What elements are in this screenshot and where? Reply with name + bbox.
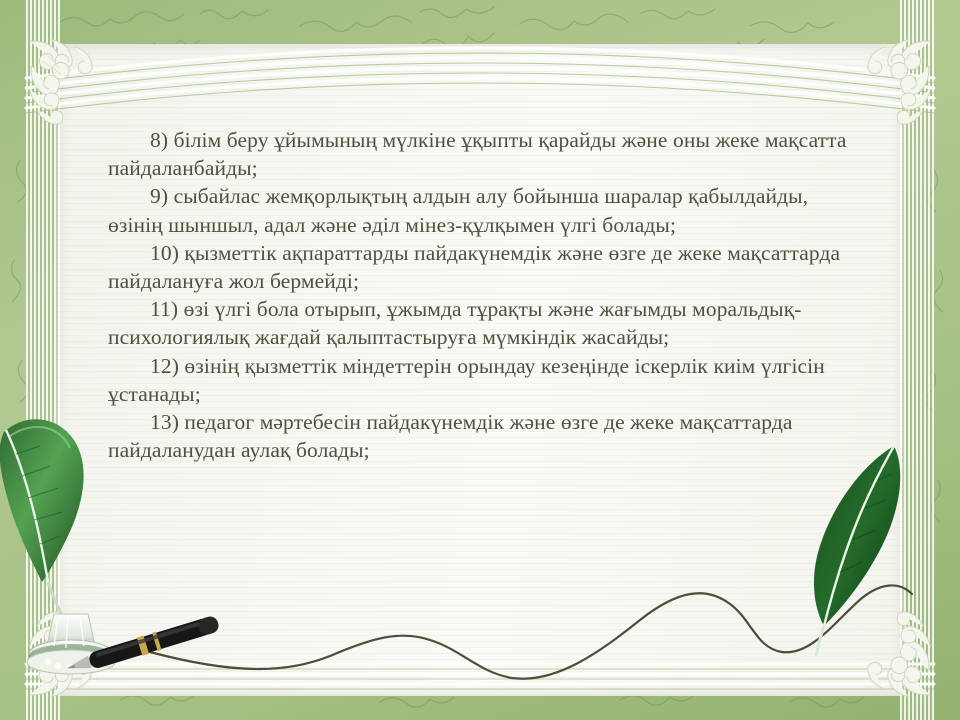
clause-paragraph: 13) педагог мәртебесін пайдакүнемдік жән… (108, 408, 856, 464)
clause-paragraph: 8) білім беру ұйымының мүлкіне ұқыпты қа… (108, 126, 856, 182)
clause-paragraph: 12) өзінің қызметтік міндеттерін орындау… (108, 352, 856, 408)
slide-body-text: 8) білім беру ұйымының мүлкіне ұқыпты қа… (108, 126, 856, 464)
slide-canvas: 8) білім беру ұйымының мүлкіне ұқыпты қа… (0, 0, 960, 720)
clause-paragraph: 11) өзі үлгі бола отырып, ұжымда тұрақты… (108, 295, 856, 351)
clause-paragraph: 9) сыбайлас жемқорлықтың алдын алу бойын… (108, 182, 856, 238)
clause-paragraph: 10) қызметтік ақпараттарды пайдакүнемдік… (108, 239, 856, 295)
